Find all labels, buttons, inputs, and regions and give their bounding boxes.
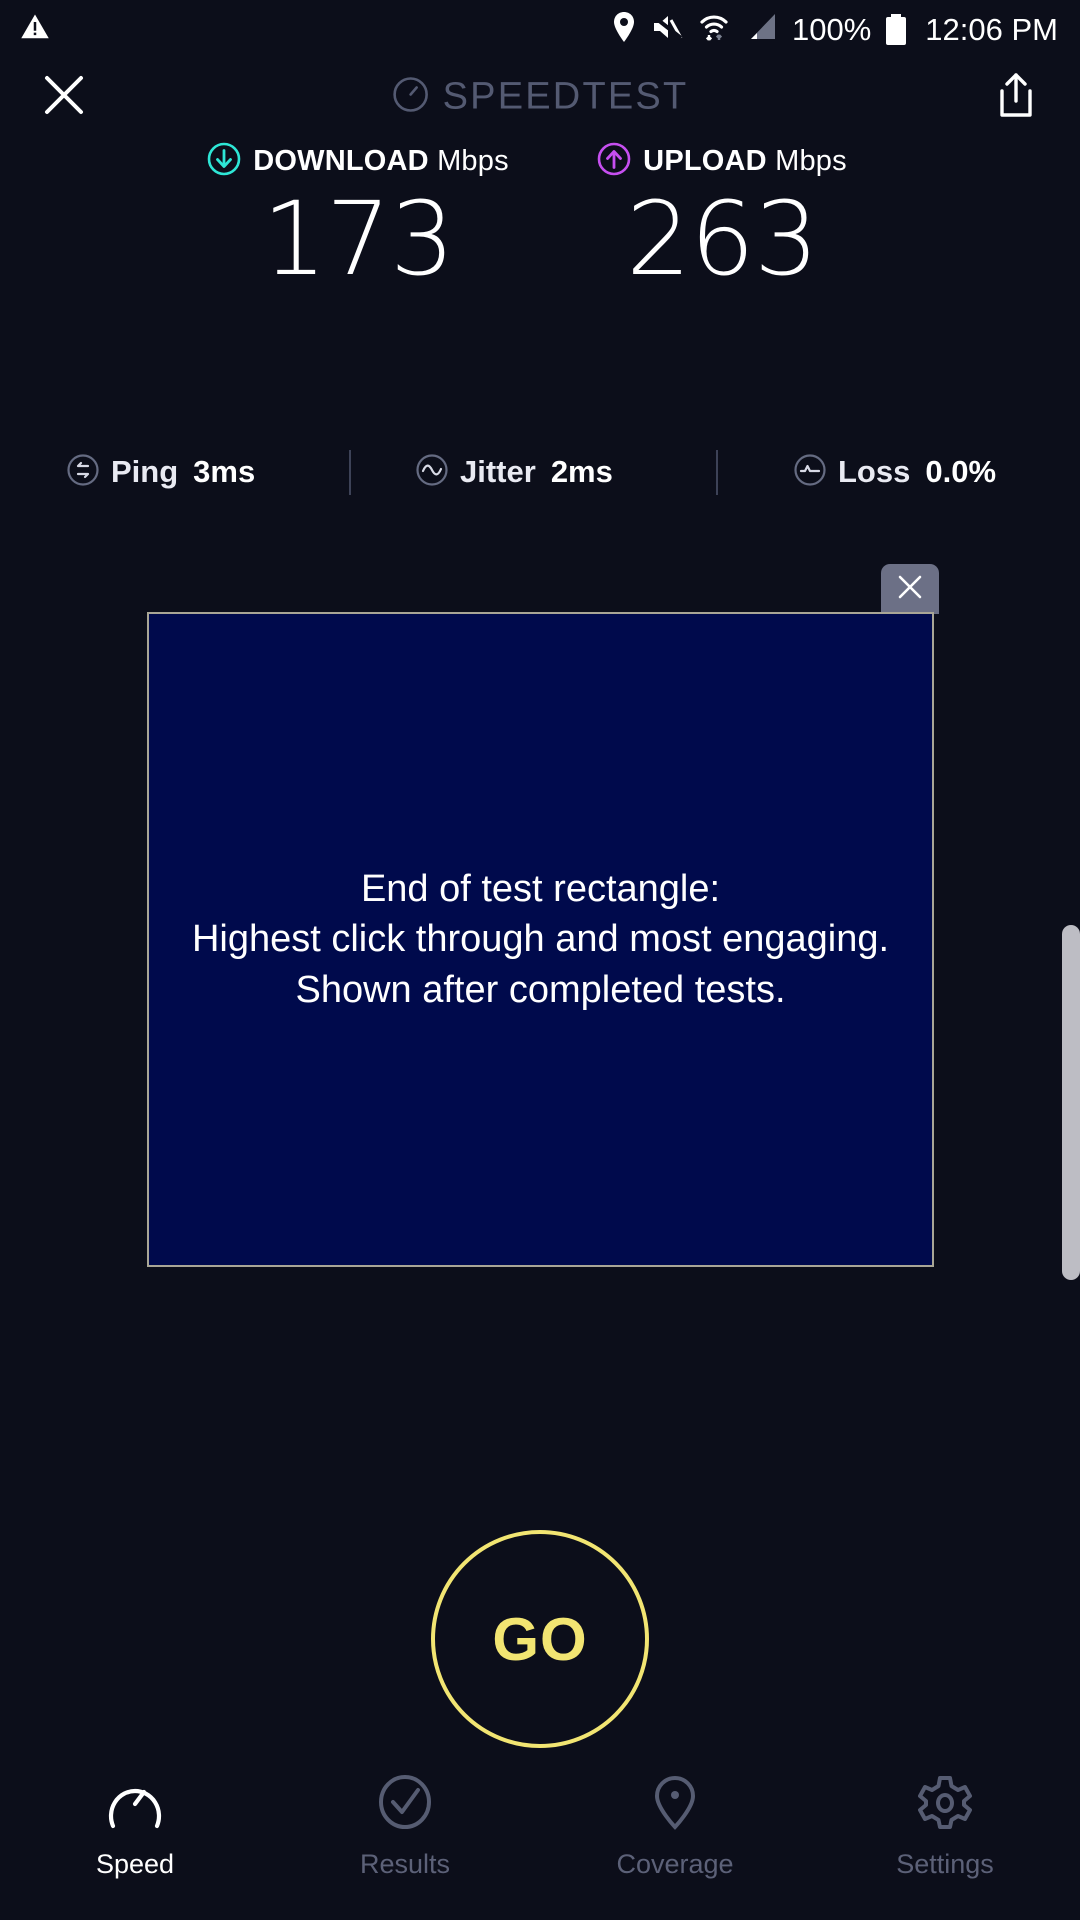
- loss-label: Loss: [838, 454, 910, 490]
- close-icon: [895, 572, 925, 607]
- cellular-signal-icon: [745, 12, 777, 47]
- app-bar: SPEEDTEST: [0, 58, 1080, 136]
- share-button[interactable]: [992, 71, 1040, 123]
- status-bar-left: [20, 12, 50, 47]
- speedometer-icon: [392, 76, 430, 119]
- speedtest-app-screen: 100% 12:06 PM SPEEDTEST: [0, 0, 1080, 1920]
- jitter-label: Jitter: [460, 454, 536, 490]
- jitter-icon: [415, 453, 449, 492]
- status-bar: 100% 12:06 PM: [0, 0, 1080, 58]
- download-arrow-icon: [207, 142, 241, 181]
- test-results: DOWNLOAD Mbps 173 UPLOAD Mbps 263: [0, 140, 1080, 293]
- speedometer-icon: [105, 1774, 165, 1835]
- brand-label: SPEEDTEST: [443, 76, 689, 119]
- jitter-value: 2ms: [551, 454, 613, 490]
- mute-icon: [651, 12, 683, 47]
- nav-item-speed[interactable]: Speed: [0, 1774, 270, 1880]
- bottom-navigation: Speed Results Coverage: [0, 1762, 1080, 1920]
- download-label: DOWNLOAD Mbps: [253, 145, 509, 178]
- nav-label-speed: Speed: [96, 1849, 174, 1880]
- battery-percent-label: 100%: [792, 14, 871, 45]
- close-icon: [41, 72, 87, 123]
- nav-item-results[interactable]: Results: [270, 1774, 540, 1880]
- download-header: DOWNLOAD Mbps: [188, 140, 528, 182]
- download-upload-row: DOWNLOAD Mbps 173 UPLOAD Mbps 263: [0, 140, 1080, 293]
- go-button[interactable]: GO: [431, 1530, 649, 1748]
- nav-label-settings: Settings: [896, 1849, 994, 1880]
- nav-label-coverage: Coverage: [616, 1849, 733, 1880]
- ping-value: 3ms: [193, 454, 255, 490]
- upload-label: UPLOAD Mbps: [643, 145, 847, 178]
- download-metric: DOWNLOAD Mbps 173: [188, 140, 528, 293]
- nav-item-coverage[interactable]: Coverage: [540, 1774, 810, 1880]
- map-pin-icon: [645, 1774, 705, 1835]
- ping-jitter-loss-row: Ping 3ms Jitter 2ms: [0, 440, 1080, 504]
- divider: [349, 450, 351, 495]
- wifi-icon: [698, 11, 730, 48]
- advertisement-banner[interactable]: End of test rectangle: Highest click thr…: [147, 612, 934, 1267]
- close-test-button[interactable]: [38, 71, 90, 123]
- loss-value: 0.0%: [925, 454, 996, 490]
- vertical-scrollbar[interactable]: [1062, 925, 1080, 1280]
- warning-triangle-icon: [20, 12, 50, 47]
- location-icon: [612, 11, 636, 48]
- ping-icon: [66, 453, 100, 492]
- download-value: 173: [188, 186, 528, 293]
- share-icon: [995, 71, 1037, 124]
- gear-icon: [915, 1774, 975, 1835]
- clock-label: 12:06 PM: [925, 14, 1058, 45]
- nav-label-results: Results: [360, 1849, 450, 1880]
- upload-value: 263: [552, 186, 892, 293]
- nav-item-settings[interactable]: Settings: [810, 1774, 1080, 1880]
- upload-metric: UPLOAD Mbps 263: [552, 140, 892, 293]
- check-circle-icon: [375, 1774, 435, 1835]
- upload-arrow-icon: [597, 142, 631, 181]
- divider: [716, 450, 718, 495]
- loss-metric: Loss 0.0%: [793, 453, 996, 492]
- brand: SPEEDTEST: [392, 76, 689, 119]
- ad-close-button[interactable]: [881, 564, 939, 614]
- ping-label: Ping: [111, 454, 178, 490]
- ping-metric: Ping 3ms: [66, 453, 255, 492]
- battery-full-icon: [886, 14, 906, 45]
- ad-text: End of test rectangle: Highest click thr…: [192, 864, 889, 1016]
- jitter-metric: Jitter 2ms: [415, 453, 613, 492]
- go-button-label: GO: [492, 1605, 587, 1674]
- loss-icon: [793, 453, 827, 492]
- status-bar-right: 100% 12:06 PM: [612, 11, 1058, 48]
- upload-header: UPLOAD Mbps: [552, 140, 892, 182]
